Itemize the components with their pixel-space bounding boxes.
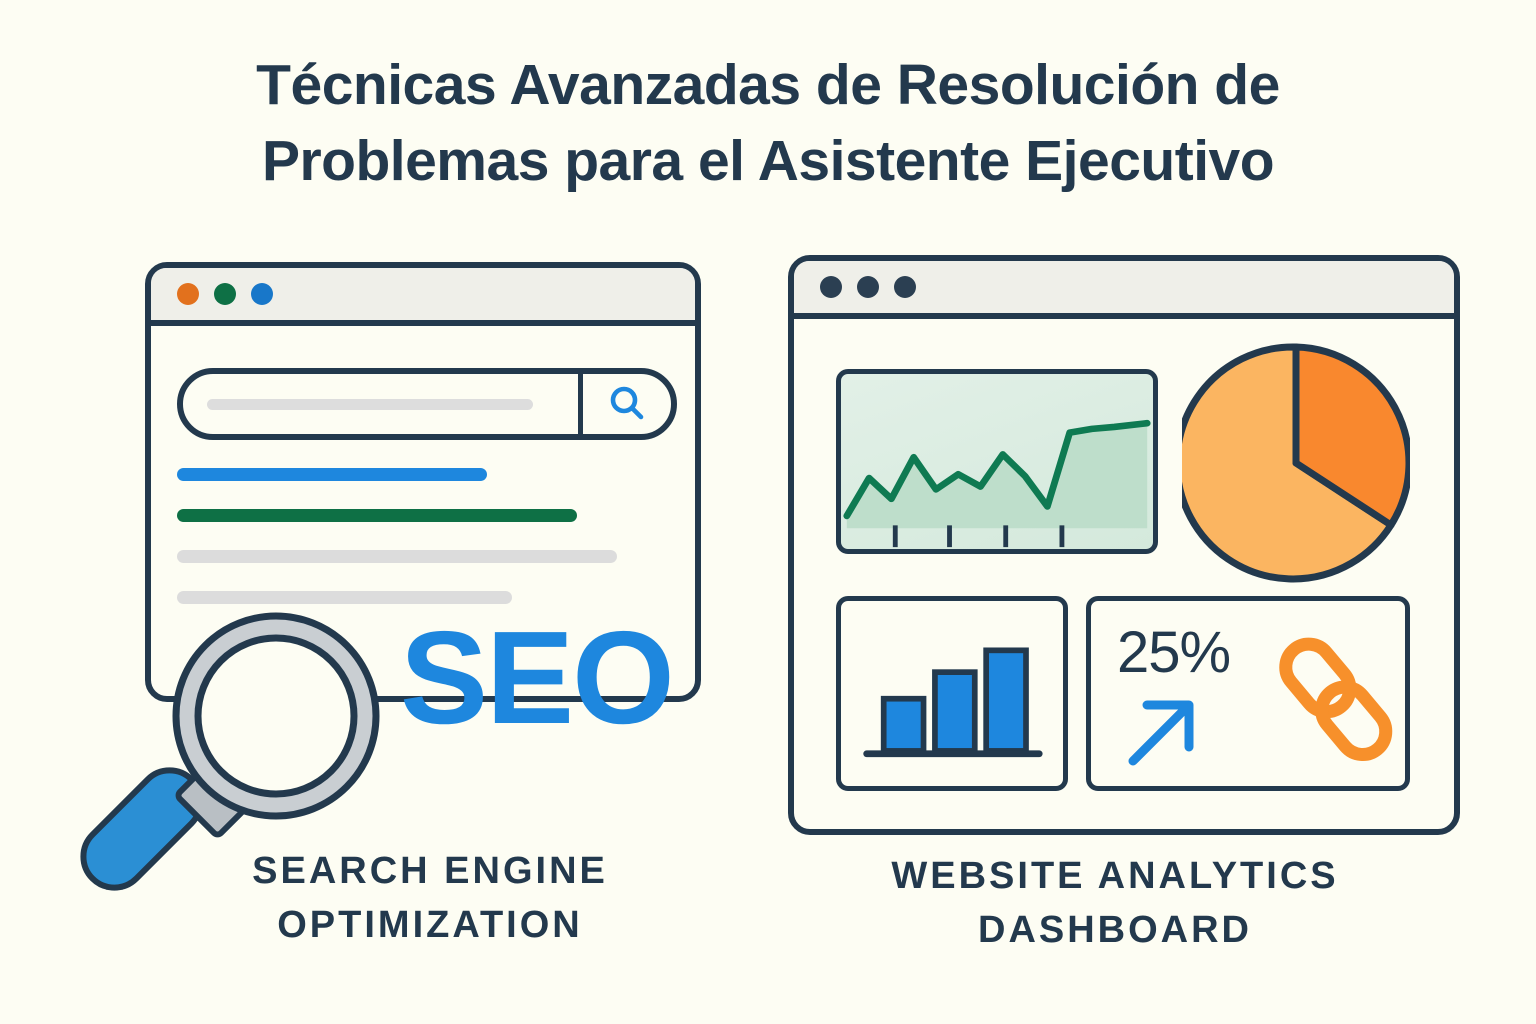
trend-x-ticks bbox=[895, 525, 1062, 547]
traffic-dot-orange[interactable] bbox=[177, 283, 199, 305]
search-submit-button[interactable] bbox=[583, 374, 671, 434]
kpi-card[interactable]: 25% bbox=[1086, 596, 1410, 791]
seo-caption-line-1: SEARCH ENGINE bbox=[120, 845, 740, 899]
traffic-dot-3[interactable] bbox=[894, 276, 916, 298]
bar-3[interactable] bbox=[986, 650, 1026, 751]
seo-window-titlebar bbox=[151, 268, 695, 326]
traffic-dot-2[interactable] bbox=[857, 276, 879, 298]
trend-area-fill bbox=[847, 423, 1147, 528]
growth-bar-chart[interactable] bbox=[836, 596, 1068, 791]
analytics-browser-window: 25% bbox=[788, 255, 1460, 835]
traffic-source-pie-svg bbox=[1182, 339, 1410, 587]
page-title: Técnicas Avanzadas de Resolución de Prob… bbox=[0, 48, 1536, 200]
search-input[interactable] bbox=[183, 374, 583, 434]
kpi-value: 25% bbox=[1117, 619, 1230, 686]
page-title-line-1: Técnicas Avanzadas de Resolución de bbox=[0, 48, 1536, 124]
analytics-caption-line-1: WEBSITE ANALYTICS bbox=[790, 850, 1440, 904]
traffic-source-pie[interactable] bbox=[1182, 339, 1410, 587]
search-placeholder-bar bbox=[207, 399, 533, 410]
traffic-dot-1[interactable] bbox=[820, 276, 842, 298]
traffic-dot-green[interactable] bbox=[214, 283, 236, 305]
traffic-trend-svg bbox=[841, 374, 1153, 549]
analytics-caption: WEBSITE ANALYTICS DASHBOARD bbox=[790, 850, 1440, 958]
result-link-secondary[interactable] bbox=[177, 509, 577, 522]
illustration-canvas: Técnicas Avanzadas de Resolución de Prob… bbox=[0, 0, 1536, 1024]
arrow-up-right-icon bbox=[1121, 689, 1205, 773]
magnifier-lens bbox=[198, 638, 354, 794]
search-bar[interactable] bbox=[177, 368, 677, 440]
bar-2[interactable] bbox=[935, 672, 975, 751]
result-link-primary[interactable] bbox=[177, 468, 487, 481]
seo-caption-line-2: OPTIMIZATION bbox=[120, 899, 740, 953]
search-icon bbox=[605, 382, 649, 426]
growth-bar-svg bbox=[841, 601, 1063, 786]
link-chain-icon bbox=[1269, 629, 1401, 771]
traffic-trend-chart[interactable] bbox=[836, 369, 1158, 554]
page-title-line-2: Problemas para el Asistente Ejecutivo bbox=[0, 124, 1536, 200]
bar-1[interactable] bbox=[884, 699, 924, 751]
analytics-window-titlebar bbox=[794, 261, 1454, 319]
seo-caption: SEARCH ENGINE OPTIMIZATION bbox=[120, 845, 740, 953]
analytics-caption-line-2: DASHBOARD bbox=[790, 904, 1440, 958]
result-text-line-1 bbox=[177, 550, 617, 563]
traffic-dot-blue[interactable] bbox=[251, 283, 273, 305]
seo-wordmark: SEO bbox=[400, 612, 673, 744]
